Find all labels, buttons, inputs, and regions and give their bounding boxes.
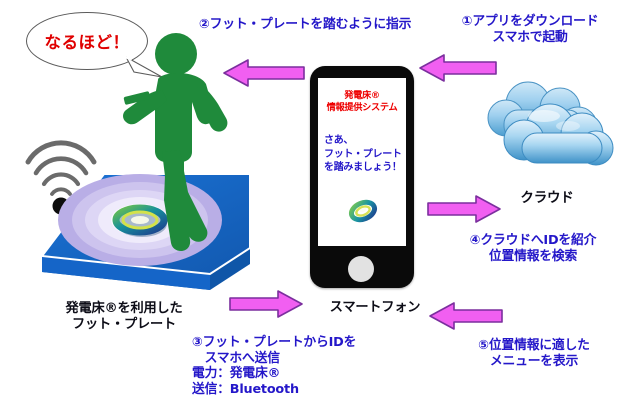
phone-app-message: さあ、 フット・プレート を踏みましょう！ bbox=[324, 134, 406, 175]
cloud-icon bbox=[468, 78, 628, 188]
step2-label: ②フット・プレートを踏むように指示 bbox=[199, 17, 411, 33]
arrow-plate-to-phone bbox=[228, 288, 304, 320]
arrow-phone-to-person bbox=[222, 57, 306, 89]
foot-plate-caption: 発電床®を利用した フット・プレート bbox=[36, 301, 212, 333]
cloud-caption: クラウド bbox=[462, 190, 632, 206]
arrow-cloud-to-phone bbox=[418, 52, 498, 84]
phone-home-button[interactable] bbox=[348, 256, 374, 282]
arrow-cloud-to-phone-bottom bbox=[428, 300, 504, 332]
step3-label: ③フット・プレートからIDを スマホへ送信 電力：発電床® 送信：Bluetoo… bbox=[192, 335, 356, 397]
phone-screen[interactable]: 発電床® 情報提供システム さあ、 フット・プレート を踏みましょう！ bbox=[318, 78, 406, 246]
step1-label: ①アプリをダウンロード スマホで起動 bbox=[440, 14, 620, 45]
phone-app-title: 発電床® 情報提供システム bbox=[318, 90, 406, 113]
smartphone-device[interactable]: 発電床® 情報提供システム さあ、 フット・プレート を踏みましょう！ bbox=[310, 66, 414, 288]
diagram-canvas: なるほど！ bbox=[0, 0, 638, 408]
smartphone-caption: スマートフォン bbox=[320, 300, 430, 316]
step5-label: ⑤位置情報に適した メニューを表示 bbox=[442, 338, 626, 369]
swirl-logo-icon bbox=[348, 196, 378, 224]
step4-label: ④クラウドへIDを紹介 位置情報を検索 bbox=[440, 233, 626, 264]
